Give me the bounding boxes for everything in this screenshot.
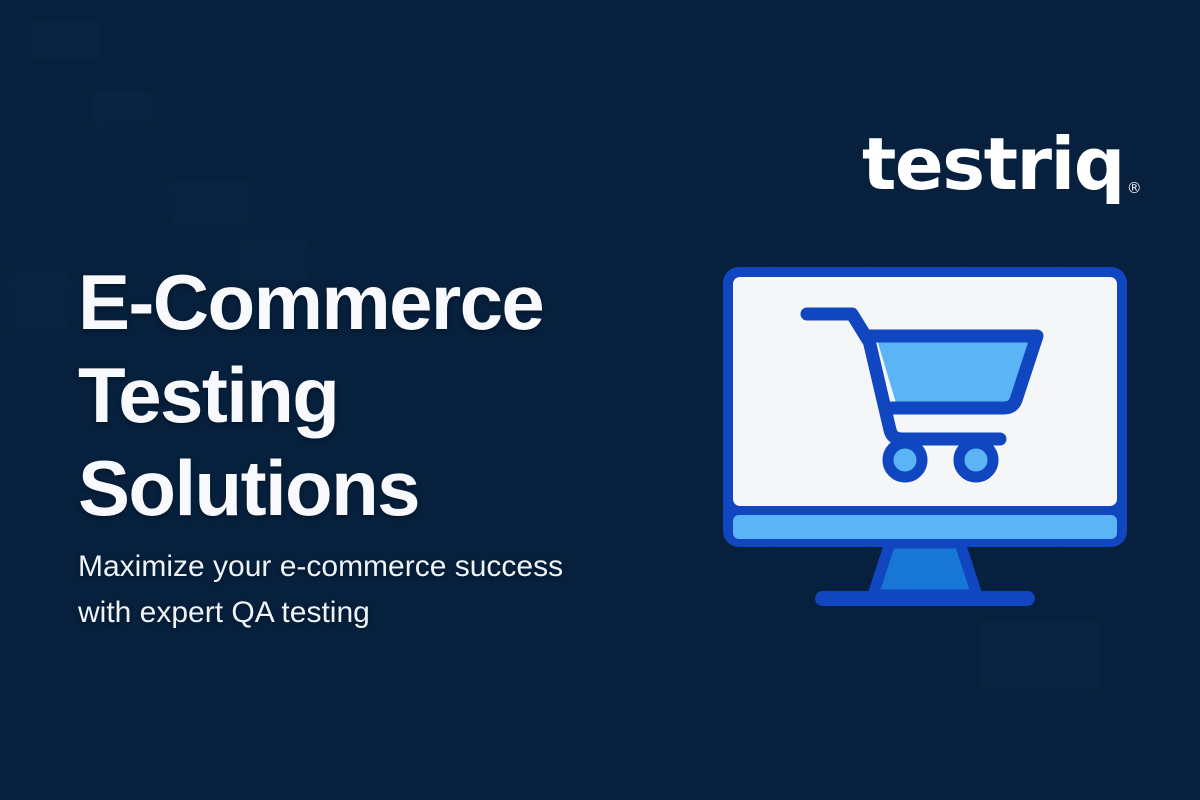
headline-line-3: Solutions: [78, 442, 718, 535]
headline-line-2: Testing: [78, 349, 718, 442]
monitor-bottom-bar: [733, 515, 1117, 539]
subtitle-line-1: Maximize your e-commerce success: [78, 544, 738, 590]
logo-wordmark: testriq: [862, 128, 1124, 200]
registered-trademark-icon: ®: [1127, 181, 1142, 196]
testriq-logo[interactable]: testriq ®: [862, 128, 1142, 200]
monitor-with-cart-icon: [700, 250, 1150, 620]
cart-wheel-left: [888, 443, 922, 477]
cart-basket-fill: [876, 336, 1033, 403]
ecommerce-testing-banner: testriq ® E-Commerce Testing Solutions M…: [0, 0, 1200, 800]
background-blotch: [170, 180, 250, 224]
monitor-illustration: [700, 250, 1150, 620]
background-blotch: [1080, 700, 1180, 760]
background-blotch: [10, 270, 70, 330]
subtitle-line-2: with expert QA testing: [78, 590, 738, 636]
background-blotch: [30, 20, 100, 60]
monitor-stand-neck: [873, 543, 977, 595]
background-blotch: [92, 90, 152, 126]
background-blotch: [60, 700, 200, 760]
cart-wheel-right: [959, 443, 993, 477]
page-title: E-Commerce Testing Solutions: [78, 256, 718, 535]
headline-line-1: E-Commerce: [78, 256, 718, 349]
background-blotch: [980, 620, 1100, 690]
page-subtitle: Maximize your e-commerce success with ex…: [78, 544, 738, 636]
